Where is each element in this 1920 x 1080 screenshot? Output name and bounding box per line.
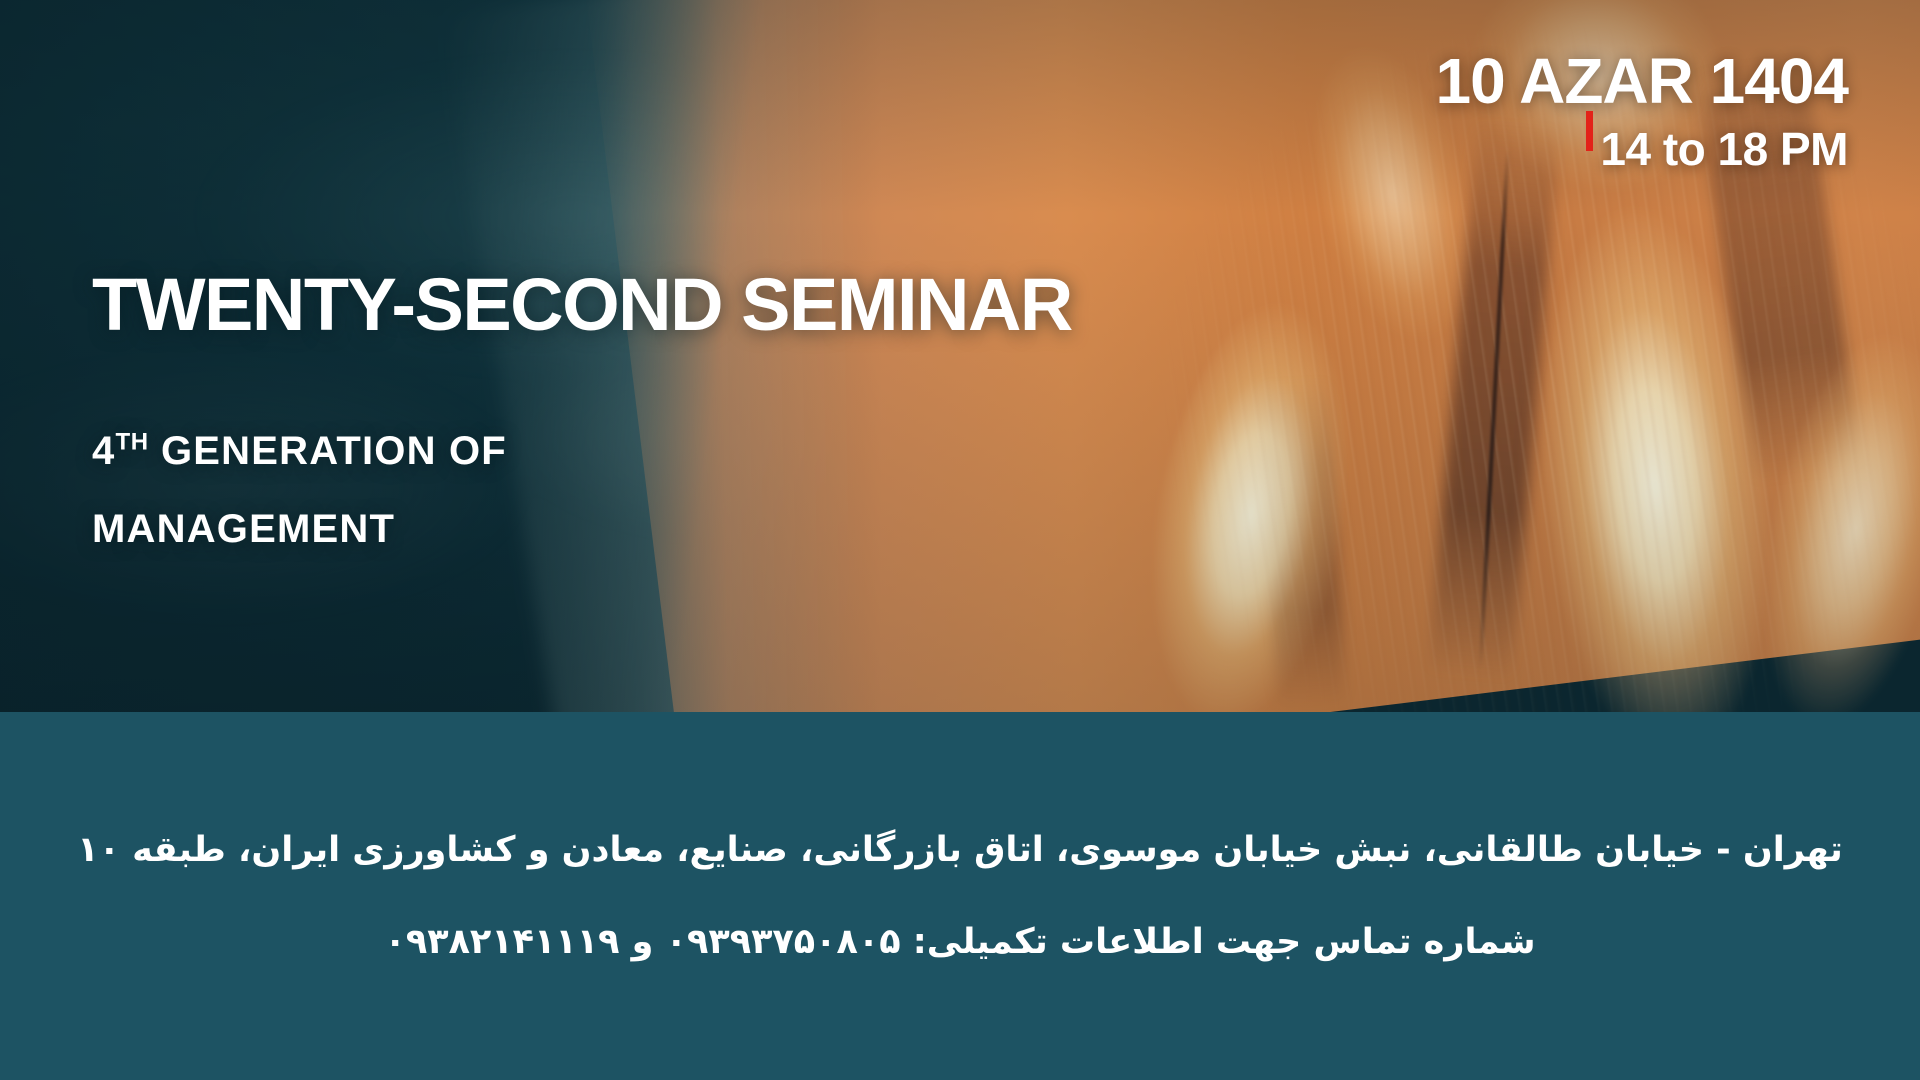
contact-phone-numbers: شماره تماس جهت اطلاعات تکمیلی: ۰۹۳۹۳۷۵۰۸… bbox=[384, 916, 1535, 969]
subtitle-line-2: MANAGEMENT bbox=[92, 490, 1072, 568]
event-date: 10 AZAR 1404 bbox=[1436, 48, 1849, 115]
event-date-block: 10 AZAR 1404 14 to 18 PM bbox=[1436, 48, 1849, 173]
seminar-subtitle: 4TH GENERATION OF MANAGEMENT bbox=[92, 412, 1072, 568]
footer-band: تهران - خیابان طالقانی، نبش خیابان موسوی… bbox=[0, 712, 1920, 1080]
seminar-title: TWENTY-SECOND SEMINAR bbox=[92, 268, 1072, 342]
subtitle-line-1: 4TH GENERATION OF bbox=[92, 412, 1072, 490]
headline-block: TWENTY-SECOND SEMINAR 4TH GENERATION OF … bbox=[92, 268, 1072, 568]
subtitle-ordinal-suffix: TH bbox=[115, 429, 148, 456]
red-accent-tick-icon bbox=[1586, 111, 1593, 151]
seminar-banner: 10 AZAR 1404 14 to 18 PM TWENTY-SECOND S… bbox=[0, 0, 1920, 1080]
venue-address: تهران - خیابان طالقانی، نبش خیابان موسوی… bbox=[77, 824, 1842, 877]
event-time: 14 to 18 PM bbox=[1600, 123, 1848, 175]
subtitle-number: 4 bbox=[92, 429, 115, 473]
subtitle-line-1-rest: GENERATION OF bbox=[149, 429, 507, 473]
event-time-row: 14 to 18 PM bbox=[1586, 125, 1848, 173]
